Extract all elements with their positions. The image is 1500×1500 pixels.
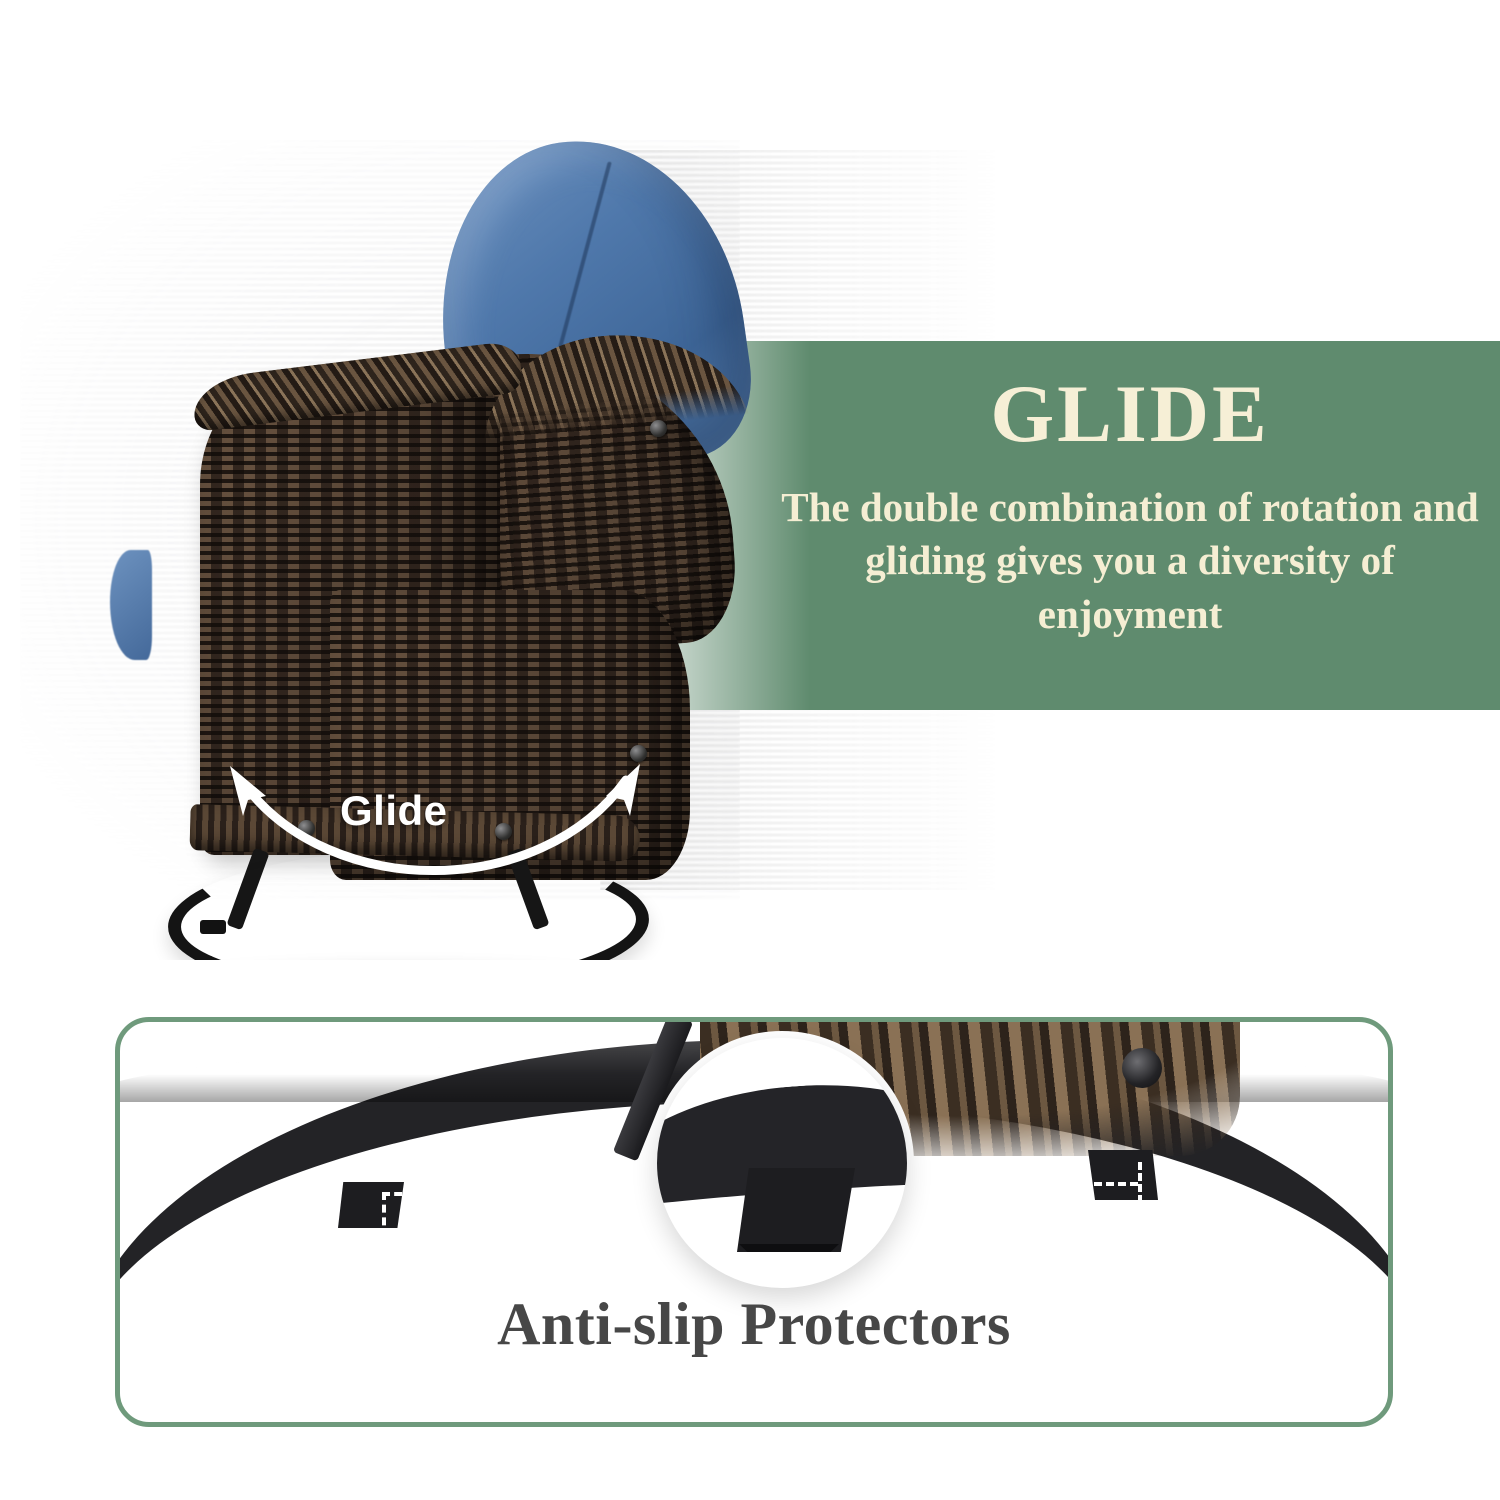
callout-dash-line — [382, 1192, 386, 1238]
magnified-protector-base — [737, 1244, 841, 1252]
magnified-protector — [737, 1168, 855, 1252]
product-chair-image: Glide — [40, 120, 770, 910]
callout-dash-line — [890, 1182, 1138, 1186]
glide-overlay-label: Glide — [340, 787, 448, 835]
floor-shadow — [150, 958, 650, 960]
infographic-canvas: GLIDE The double combination of rotation… — [0, 0, 1500, 1500]
wicker-bolt-icon — [1122, 1048, 1162, 1088]
anti-slip-detail-card: Anti-slip Protectors — [115, 1017, 1393, 1427]
hero-section: GLIDE The double combination of rotation… — [0, 0, 1500, 960]
callout-dash-line — [382, 1192, 682, 1196]
anti-slip-caption: Anti-slip Protectors — [120, 1290, 1388, 1359]
glide-panel-title: GLIDE — [990, 373, 1269, 455]
callout-dash-line — [1138, 1162, 1142, 1214]
anti-slip-protector-right — [1088, 1150, 1158, 1200]
anti-slip-protector-icon — [200, 920, 226, 934]
frame-bolt-icon — [650, 420, 667, 437]
cushion-edge-sliver — [110, 550, 152, 660]
glide-panel-body: The double combination of rotation and g… — [780, 481, 1480, 641]
anti-slip-protector-left — [338, 1182, 404, 1228]
magnifier-circle-icon — [657, 1038, 907, 1288]
